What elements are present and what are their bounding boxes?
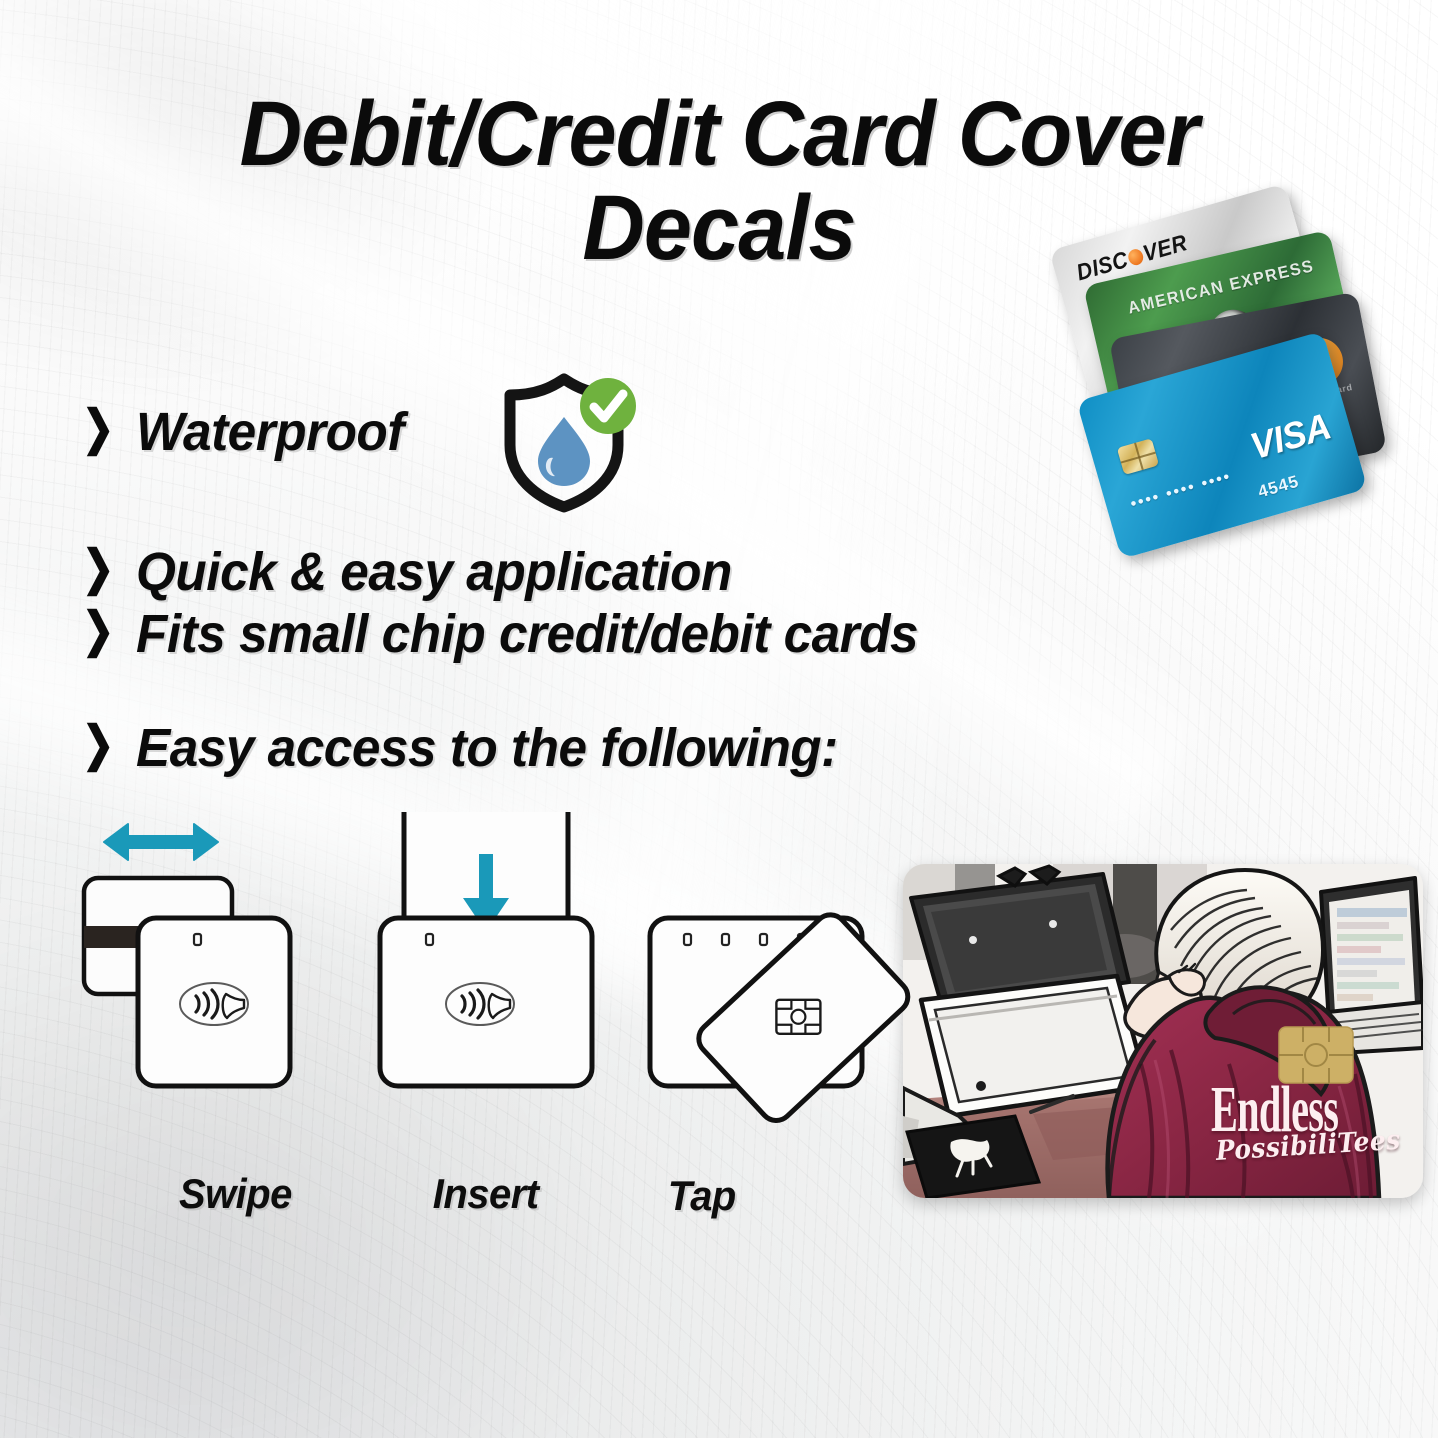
feature-item-easy-access: ❯ Easy access to the following: — [78, 720, 875, 777]
terminal-led-icon — [426, 934, 433, 945]
visa-chip-icon — [1117, 438, 1159, 475]
bullet-arrow-icon: ❯ — [82, 545, 114, 593]
feature-item-waterproof: ❯ Waterproof — [78, 404, 418, 461]
payment-method-diagrams: Swipe — [66, 812, 926, 1242]
mousepad — [907, 1116, 1039, 1198]
feature-item-quick-easy-application: ❯ Quick & easy application — [78, 544, 763, 601]
method-insert-illustration — [376, 812, 636, 1162]
method-label-swipe: Swipe — [179, 1170, 292, 1218]
method-label-tap: Tap — [668, 1172, 736, 1220]
bullet-arrow-icon: ❯ — [82, 607, 114, 655]
visa-brand-label: VISA — [1246, 406, 1335, 469]
method-swipe-illustration — [66, 812, 366, 1162]
method-tap-illustration — [646, 812, 926, 1172]
bullet-arrow-icon: ❯ — [82, 405, 114, 453]
card-terminal-insert — [380, 918, 592, 1086]
feature-label: Fits small chip credit/debit cards — [136, 606, 918, 663]
double-horizontal-arrow-icon — [104, 824, 218, 860]
product-card-decal-photo: Endless PossibiliTees — [903, 864, 1423, 1198]
feature-item-fits-small-chip-cards: ❯ Fits small chip credit/debit cards — [78, 606, 959, 663]
emv-chip-icon — [776, 1000, 820, 1034]
water-droplet-icon — [538, 417, 590, 486]
page-title-line-1: Debit/Credit Card Cover — [43, 88, 1395, 182]
visa-last-four-digits: 4545 — [1256, 472, 1302, 503]
feature-label: Easy access to the following: — [136, 720, 838, 777]
feature-label: Waterproof — [136, 404, 404, 461]
poster-canvas: Debit/Credit Card Cover Decals ❯ Waterpr… — [0, 0, 1438, 1438]
card-terminal-swipe — [138, 918, 290, 1086]
method-label-insert: Insert — [433, 1170, 539, 1218]
bullet-arrow-icon: ❯ — [82, 721, 114, 769]
terminal-led-icon — [194, 934, 201, 945]
visa-masked-digits: •••• •••• •••• — [1129, 468, 1234, 514]
page-title: Debit/Credit Card Cover Decals — [0, 88, 1438, 276]
page-title-line-2: Decals — [43, 182, 1395, 276]
feature-label: Quick & easy application — [136, 544, 732, 601]
waterproof-shield-icon — [492, 373, 644, 513]
